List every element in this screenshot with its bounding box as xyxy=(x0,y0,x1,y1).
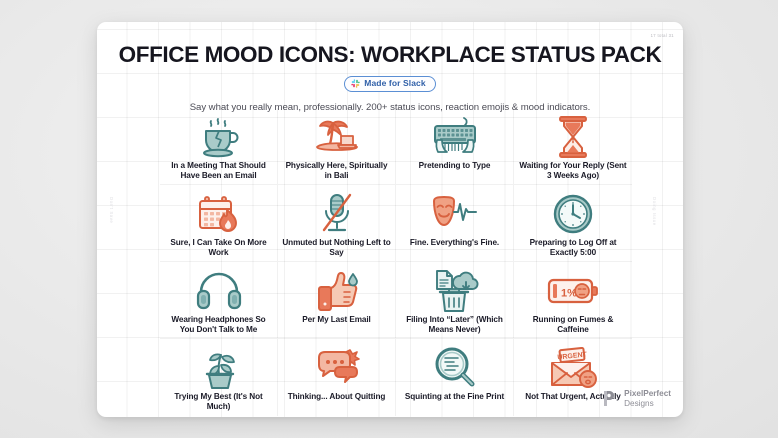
headphones-icon xyxy=(196,268,242,313)
tile-caption: Squinting at the Fine Print xyxy=(405,392,504,402)
icon-tile[interactable]: Trying My Best (It's Not Much) xyxy=(160,339,278,416)
thumbs-up-sweat-icon xyxy=(315,268,359,313)
badge-row: Made for Slack xyxy=(97,75,683,93)
made-for-slack-badge[interactable]: Made for Slack xyxy=(344,76,435,92)
muted-microphone-icon xyxy=(318,191,356,236)
pixelperfect-p-logo xyxy=(601,390,618,407)
tile-caption: Thinking... About Quitting xyxy=(288,392,386,402)
tile-caption: Physically Here, Spiritually in Bali xyxy=(282,161,392,182)
tile-caption: Unmuted but Nothing Left to Say xyxy=(282,238,392,259)
tile-caption: Running on Fumes & Caffeine xyxy=(518,315,628,336)
side-note-left: Don't Save xyxy=(109,197,114,223)
icon-tile[interactable]: Physically Here, Spiritually in Bali xyxy=(278,108,396,185)
hourglass-icon xyxy=(556,114,590,159)
speech-bubbles-icon xyxy=(314,345,360,390)
icon-tile[interactable]: In a Meeting That Should Have Been an Em… xyxy=(160,108,278,185)
cracked-coffee-cup-icon xyxy=(197,114,241,159)
icon-tile[interactable]: Fine. Everything's Fine. xyxy=(396,185,514,262)
tile-caption: Fine. Everything's Fine. xyxy=(410,238,499,248)
poster-header: OFFICE MOOD ICONS: WORKPLACE STATUS PACK… xyxy=(97,22,683,113)
poster-card: 17 total 31 Don't Save Doing Issue OFFIC… xyxy=(97,22,683,417)
file-cloud-trash-icon xyxy=(431,268,479,313)
icon-tile[interactable]: Sure, I Can Take On More Work xyxy=(160,185,278,262)
icon-tile[interactable]: Per My Last Email xyxy=(278,262,396,339)
icon-tile[interactable]: Thinking... About Quitting xyxy=(278,339,396,416)
wilting-plant-icon xyxy=(197,345,241,390)
icon-grid: In a Meeting That Should Have Been an Em… xyxy=(160,108,632,416)
icon-tile[interactable]: Pretending to Type xyxy=(396,108,514,185)
urgent-envelope-icon: URGENT xyxy=(548,345,598,390)
page-title: OFFICE MOOD ICONS: WORKPLACE STATUS PACK xyxy=(97,44,683,67)
tile-caption: Trying My Best (It's Not Much) xyxy=(164,392,274,413)
calendar-fire-icon xyxy=(197,191,241,236)
tile-caption: Preparing to Log Off at Exactly 5:00 xyxy=(518,238,628,259)
tile-caption: Sure, I Can Take On More Work xyxy=(164,238,274,259)
icon-tile[interactable]: Waiting for Your Reply (Sent 3 Weeks Ago… xyxy=(514,108,632,185)
brand-text: PixelPerfect Designs xyxy=(624,389,671,410)
icon-tile[interactable]: 1% Running on Fumes & Caffeine xyxy=(514,262,632,339)
tile-caption: Waiting for Your Reply (Sent 3 Weeks Ago… xyxy=(518,161,628,182)
brand-line-1: PixelPerfect xyxy=(624,389,671,399)
icon-tile[interactable]: Preparing to Log Off at Exactly 5:00 xyxy=(514,185,632,262)
smiling-mask-heartbeat-icon xyxy=(430,191,480,236)
low-battery-face-icon: 1% xyxy=(547,268,599,313)
brand-line-2: Designs xyxy=(624,399,654,408)
magnifying-glass-icon xyxy=(433,345,477,390)
icon-tile[interactable]: Filing Into “Later” (Which Means Never) xyxy=(396,262,514,339)
icon-tile[interactable]: Wearing Headphones So You Don't Talk to … xyxy=(160,262,278,339)
wall-clock-icon xyxy=(552,191,594,236)
tile-caption: Wearing Headphones So You Don't Talk to … xyxy=(164,315,274,336)
tile-caption: Filing Into “Later” (Which Means Never) xyxy=(400,315,510,336)
icon-tile[interactable]: Unmuted but Nothing Left to Say xyxy=(278,185,396,262)
palm-tree-laptop-icon xyxy=(314,114,360,159)
footer-logo[interactable]: PixelPerfect Designs xyxy=(601,389,671,410)
tile-caption: In a Meeting That Should Have Been an Em… xyxy=(164,161,274,182)
tile-caption: Per My Last Email xyxy=(302,315,370,325)
keyboard-hands-icon xyxy=(431,114,479,159)
side-note-right: Doing Issue xyxy=(652,197,657,226)
icon-tile[interactable]: Squinting at the Fine Print xyxy=(396,339,514,416)
slack-icon xyxy=(351,79,360,88)
badge-label: Made for Slack xyxy=(364,78,425,88)
tile-caption: Pretending to Type xyxy=(419,161,491,171)
